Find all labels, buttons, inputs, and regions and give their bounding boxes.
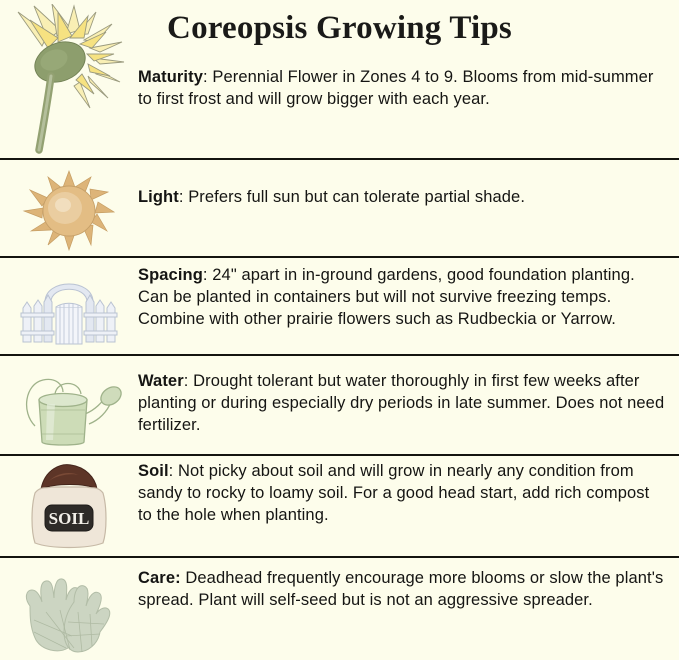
- light-icon-cell: [0, 168, 138, 252]
- soil-text: Soil: Not picky about soil and will grow…: [138, 460, 666, 526]
- maturity-icon-cell: [0, 4, 138, 156]
- care-icon-cell: [0, 562, 138, 658]
- maturity-label: Maturity: [138, 68, 203, 86]
- divider-2: [0, 256, 679, 258]
- soil-icon-cell: SOIL: [0, 459, 138, 553]
- soil-bag-icon: SOIL: [21, 459, 117, 553]
- divider-4: [0, 454, 679, 456]
- soil-body: Not picky about soil and will grow in ne…: [138, 462, 649, 524]
- light-label: Light: [138, 188, 179, 206]
- soil-label: Soil: [138, 462, 169, 480]
- spacing-icon-cell: [0, 268, 138, 354]
- water-label: Water: [138, 372, 184, 390]
- spacing-body: 24" apart in in-ground gardens, good fou…: [138, 266, 635, 328]
- light-body: Prefers full sun but can tolerate partia…: [184, 188, 526, 206]
- growing-tips-infographic: Coreopsis Growing Tips: [0, 0, 679, 660]
- soil-bag-label: SOIL: [49, 509, 90, 528]
- water-text: Water: Drought tolerant but water thorou…: [138, 370, 666, 436]
- divider-1: [0, 158, 679, 160]
- care-text: Care: Deadhead frequently encourage more…: [138, 567, 666, 611]
- maturity-text: Maturity: Perennial Flower in Zones 4 to…: [138, 66, 666, 110]
- sun-icon: [21, 168, 117, 252]
- garden-gate-fence-icon: [15, 268, 123, 354]
- light-text: Light: Prefers full sun but can tolerate…: [138, 186, 666, 208]
- divider-5: [0, 556, 679, 558]
- gardening-gloves-icon: [16, 562, 122, 658]
- spacing-label: Spacing: [138, 266, 203, 284]
- yellow-daisy-flower-icon: [8, 4, 130, 156]
- care-label: Care:: [138, 569, 181, 587]
- divider-3: [0, 354, 679, 356]
- care-body: Deadhead frequently encourage more bloom…: [138, 569, 663, 609]
- spacing-text: Spacing: 24" apart in in-ground gardens,…: [138, 264, 666, 330]
- water-body: Drought tolerant but water thoroughly in…: [138, 372, 664, 434]
- water-icon-cell: [0, 368, 138, 454]
- maturity-body: Perennial Flower in Zones 4 to 9. Blooms…: [138, 68, 654, 108]
- watering-can-icon: [13, 368, 125, 454]
